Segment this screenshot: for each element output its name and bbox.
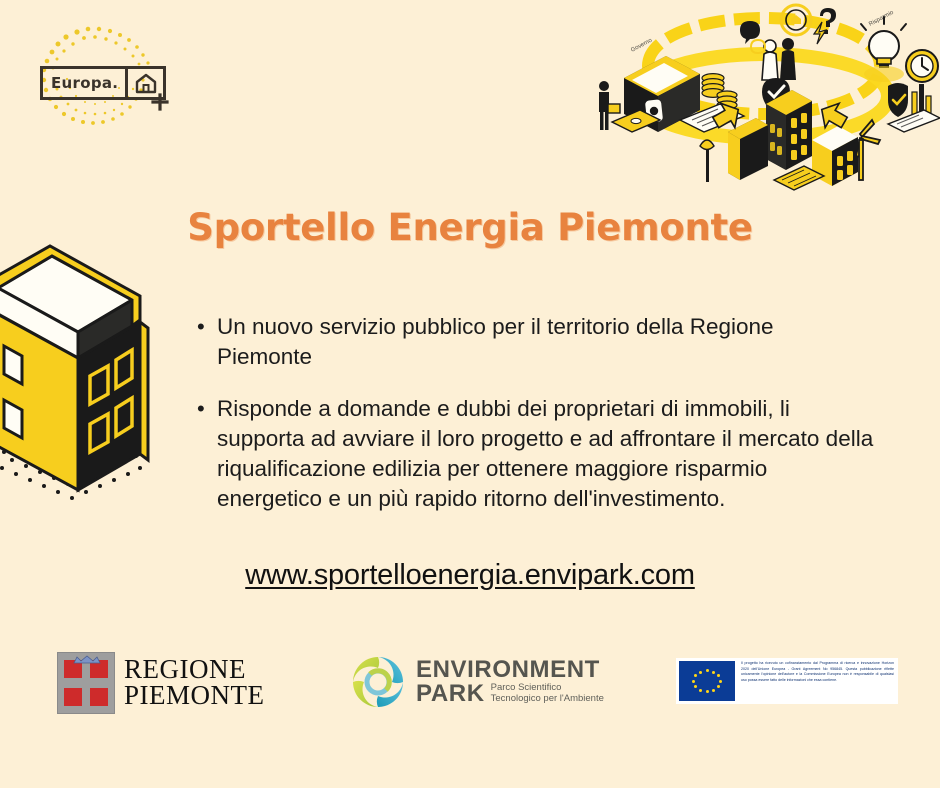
- poster-slide: Europa.: [0, 0, 940, 788]
- envpark-subtitle-line2: Tecnologico per l'Ambiente: [491, 693, 604, 704]
- bullet-marker: •: [197, 394, 217, 424]
- swirl-icon: [350, 654, 406, 710]
- plus-icon: [150, 92, 170, 112]
- crown-icon: [72, 655, 102, 665]
- regione-piemonte-logo: REGIONE PIEMONTE: [57, 652, 265, 714]
- list-item: • Un nuovo servizio pubblico per il terr…: [197, 312, 877, 372]
- europa-wordmark: Europa.: [43, 69, 128, 97]
- eu-funding-disclaimer: Il progetto ha ricevuto un cofinanziamen…: [735, 658, 898, 704]
- list-item: • Risponde a domande e dubbi dei proprie…: [197, 394, 877, 514]
- bullet-list: • Un nuovo servizio pubblico per il terr…: [197, 312, 877, 536]
- envpark-line1: ENVIRONMENT: [416, 658, 604, 682]
- eu-flag-icon: [679, 661, 735, 701]
- environment-park-wordmark: ENVIRONMENT PARK Parco Scientifico Tecno…: [416, 658, 604, 707]
- footer-logos: REGIONE PIEMONTE: [0, 648, 940, 728]
- page-title: Sportello Energia Piemonte: [0, 206, 940, 249]
- eu-funding-block: Il progetto ha ricevuto un cofinanziamen…: [676, 658, 898, 704]
- isometric-building-illustration: [0, 228, 175, 518]
- list-item-text: Un nuovo servizio pubblico per il territ…: [217, 312, 877, 372]
- envpark-subtitle: Parco Scientifico Tecnologico per l'Ambi…: [491, 682, 604, 706]
- regione-piemonte-wordmark: REGIONE PIEMONTE: [124, 657, 265, 709]
- bullet-marker: •: [197, 312, 217, 342]
- envpark-line2: PARK: [416, 682, 485, 706]
- svg-text:Risparmio: Risparmio: [868, 9, 895, 27]
- envpark-subtitle-line1: Parco Scientifico: [491, 682, 604, 693]
- isometric-energy-cycle-illustration: Governo Risparmio: [588, 0, 940, 200]
- website-link[interactable]: www.sportelloenergia.envipark.com: [0, 559, 940, 592]
- list-item-text: Risponde a domande e dubbi dei proprieta…: [217, 394, 877, 514]
- piemonte-cross-emblem-icon: [57, 652, 115, 714]
- environment-park-logo: ENVIRONMENT PARK Parco Scientifico Tecno…: [350, 654, 604, 710]
- europa-logo-box: Europa.: [40, 66, 166, 100]
- regione-line2: PIEMONTE: [124, 683, 265, 709]
- europa-logo: Europa.: [22, 18, 192, 148]
